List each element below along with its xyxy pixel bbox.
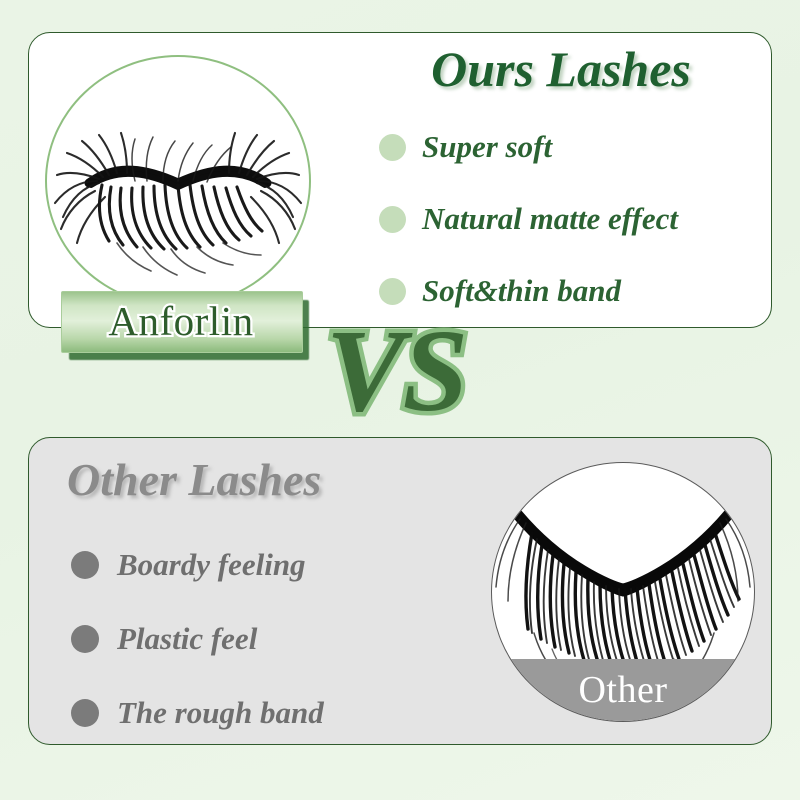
ours-feature-item: Natural matte effect xyxy=(379,183,769,255)
comparison-graphic: Anforlin Ours Lashes Super soft Natural … xyxy=(0,0,800,800)
ours-lashes-panel: Anforlin Ours Lashes Super soft Natural … xyxy=(28,32,772,328)
other-lashes-panel: Other Lashes Boardy feeling Plastic feel… xyxy=(28,437,772,745)
brand-name: Anforlin xyxy=(61,291,301,351)
ours-feature-label: Super soft xyxy=(422,129,552,165)
other-drawback-item: Plastic feel xyxy=(71,602,471,676)
ours-feature-list: Super soft Natural matte effect Soft&thi… xyxy=(379,111,769,327)
other-drawback-label: The rough band xyxy=(117,695,324,731)
other-drawback-item: The rough band xyxy=(71,676,471,750)
bullet-circle-icon xyxy=(379,134,406,161)
other-panel-title: Other Lashes xyxy=(67,456,321,504)
bullet-circle-icon xyxy=(379,206,406,233)
ours-panel-title: Ours Lashes xyxy=(371,43,751,96)
other-caption-label: Other xyxy=(578,671,667,709)
other-product-photo: Other xyxy=(491,462,757,724)
ours-product-photo xyxy=(45,55,313,307)
other-drawback-label: Plastic feel xyxy=(117,621,257,657)
eyelash-illustration-ours xyxy=(47,57,309,305)
ours-photo-circle xyxy=(45,55,311,307)
bullet-circle-icon xyxy=(379,278,406,305)
other-drawback-item: Boardy feeling xyxy=(71,528,471,602)
bullet-circle-icon xyxy=(71,625,99,653)
ours-feature-label: Natural matte effect xyxy=(422,201,678,237)
other-drawback-list: Boardy feeling Plastic feel The rough ba… xyxy=(71,528,471,750)
versus-badge: VS xyxy=(296,312,496,430)
other-photo-circle: Other xyxy=(491,462,755,722)
other-caption-band: Other xyxy=(492,659,754,721)
ours-feature-item: Super soft xyxy=(379,111,769,183)
brand-banner: Anforlin xyxy=(61,291,301,353)
other-drawback-label: Boardy feeling xyxy=(117,547,306,583)
bullet-circle-icon xyxy=(71,699,99,727)
ours-feature-label: Soft&thin band xyxy=(422,273,621,309)
bullet-circle-icon xyxy=(71,551,99,579)
